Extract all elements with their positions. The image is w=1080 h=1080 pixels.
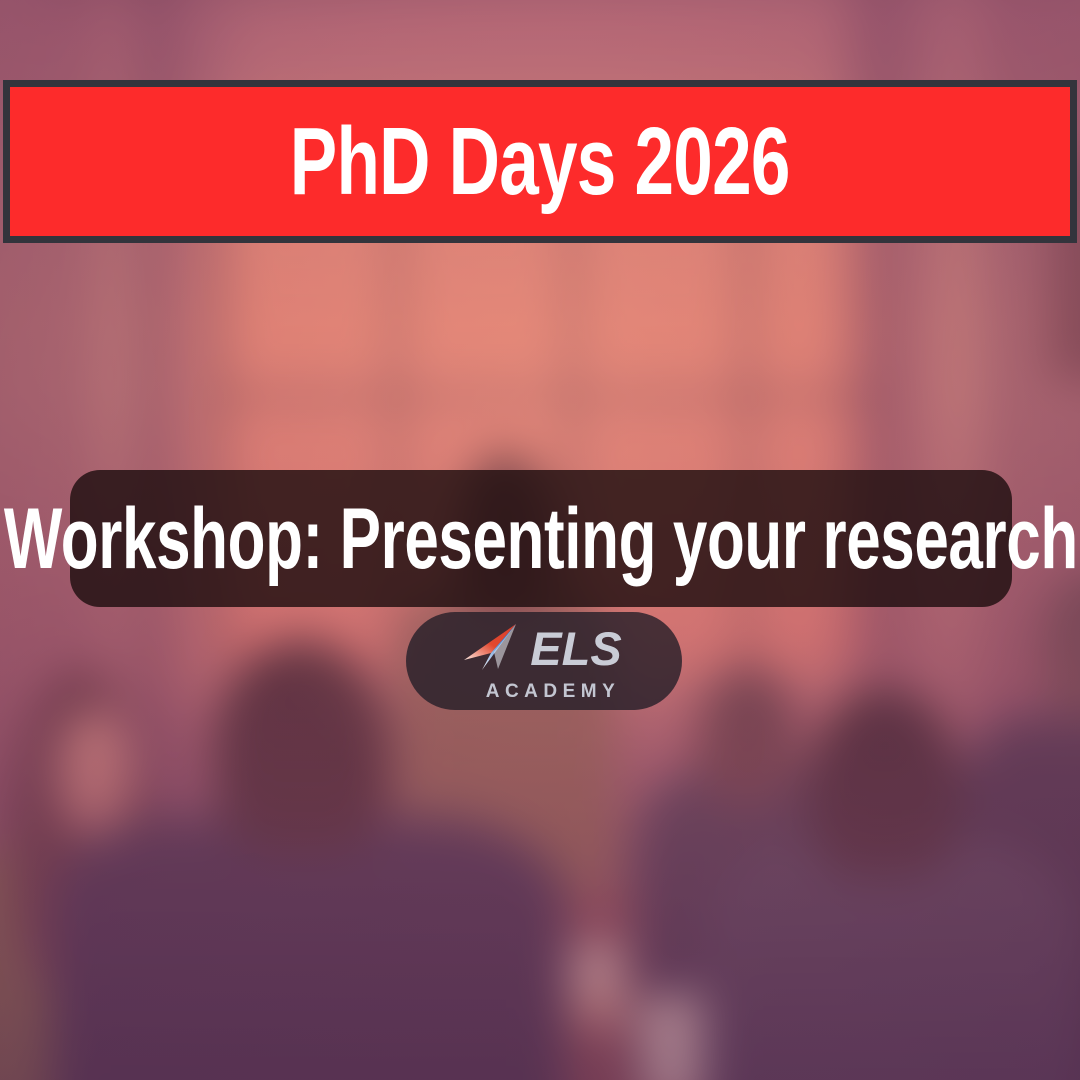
- els-academy-logo: ELS ACADEMY: [406, 612, 682, 710]
- workshop-title-box: Workshop: Presenting your research: [70, 470, 1012, 607]
- workshop-title: Workshop: Presenting your research: [4, 496, 1078, 582]
- event-title-banner: PhD Days 2026: [3, 80, 1077, 243]
- paper-plane-icon: [460, 622, 522, 676]
- logo-primary-row: ELS: [460, 622, 621, 676]
- event-title: PhD Days 2026: [290, 114, 790, 210]
- logo-tagline-text: ACADEMY: [486, 682, 621, 701]
- logo-brand-text: ELS: [530, 625, 621, 672]
- promo-poster: PhD Days 2026 Workshop: Presenting your …: [0, 0, 1080, 1080]
